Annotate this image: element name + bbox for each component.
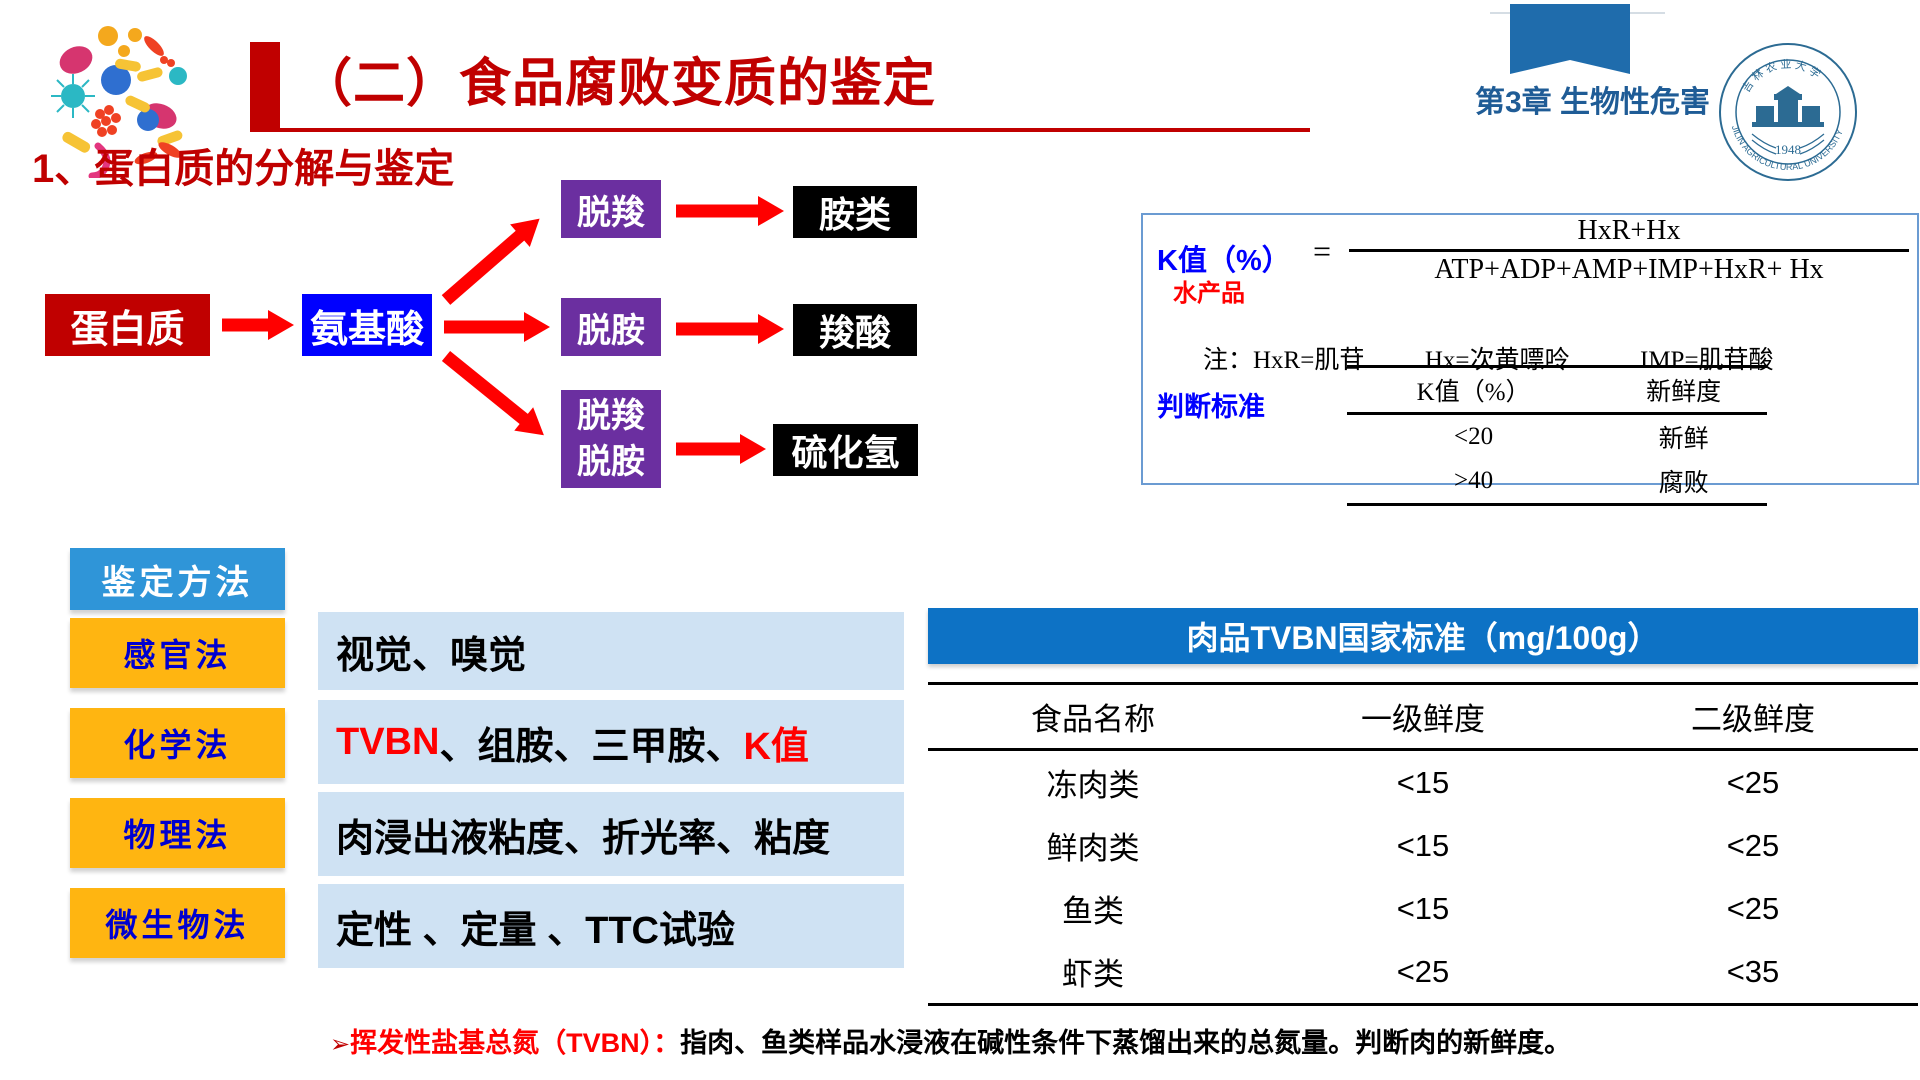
- flow-box-amines: 胺类: [793, 186, 917, 238]
- table-row: 鲜肉类 <15 <25: [928, 814, 1918, 877]
- method-content-sensory: 视觉、嗅觉: [318, 612, 904, 690]
- footnote: ➢挥发性盐基总氮（TVBN）：指肉、鱼类样品水浸液在碱性条件下蒸馏出来的总氮量。…: [330, 1020, 1920, 1066]
- chapter-ribbon: [1510, 4, 1630, 60]
- university-seal-logo: 1948 吉 林 农 业 大 学 JILIN AGRICULTURAL UNIV…: [1718, 42, 1858, 182]
- kvalue-note-hxr: 注：HxR=肌苷: [1203, 340, 1364, 376]
- svg-text:吉 林 农 业 大 学: 吉 林 农 业 大 学: [1739, 58, 1823, 95]
- criteria-cell: <20: [1347, 414, 1600, 460]
- table-row: <20 新鲜: [1347, 414, 1767, 460]
- tvbn-cell-grade2: <35: [1588, 940, 1918, 1005]
- flow-box-deamination: 脱胺: [561, 298, 661, 356]
- tvbn-cell-grade2: <25: [1588, 814, 1918, 877]
- tvbn-header-grade2: 二级鲜度: [1588, 684, 1918, 750]
- method-content-microbiological: 定性 、定量 、TTC试验: [318, 884, 904, 968]
- criteria-cell: >40: [1347, 459, 1600, 505]
- kvalue-numerator: HxR+Hx: [1349, 215, 1909, 249]
- flow-box-decarb-deamin-line2: 脱胺: [577, 439, 645, 485]
- content-text-kvalue: K值: [743, 715, 808, 770]
- kvalue-denominator: ATP+ADP+AMP+IMP+HxR+ Hx: [1349, 252, 1909, 286]
- arrow-amino-to-decarboxylation: [446, 218, 540, 300]
- criteria-cell: 腐败: [1600, 459, 1767, 505]
- content-text-mid: 、组胺、三甲胺、: [439, 715, 743, 770]
- tvbn-cell-grade1: <25: [1258, 940, 1588, 1005]
- svg-text:1948: 1948: [1775, 142, 1801, 157]
- tvbn-table-title: 肉品TVBN国家标准（mg/100g）: [928, 608, 1918, 664]
- tvbn-cell-food: 鱼类: [928, 877, 1258, 940]
- flow-box-decarb-deamin-line1: 脱羧: [577, 393, 645, 439]
- tvbn-cell-grade2: <25: [1588, 877, 1918, 940]
- criteria-header-0: K值（%）: [1347, 367, 1600, 414]
- bullet-arrow-icon: ➢: [330, 1031, 350, 1058]
- tvbn-cell-food: 鲜肉类: [928, 814, 1258, 877]
- content-text: 肉浸出液粘度、折光率、粘度: [336, 807, 830, 862]
- table-row: 虾类 <25 <35: [928, 940, 1918, 1005]
- table-header-row: K值（%） 新鲜度: [1347, 367, 1767, 414]
- tvbn-header-grade1: 一级鲜度: [1258, 684, 1588, 750]
- title-underline: [250, 128, 1310, 132]
- kvalue-fraction: HxR+Hx ATP+ADP+AMP+IMP+HxR+ Hx: [1349, 215, 1909, 286]
- title-accent-bar: [250, 42, 280, 128]
- kvalue-sublabel: 水产品: [1173, 273, 1293, 308]
- footnote-term: 挥发性盐基总氮（TVBN）：: [350, 1028, 680, 1058]
- tvbn-cell-food: 冻肉类: [928, 750, 1258, 815]
- flow-box-hydrogen-sulfide: 硫化氢: [773, 424, 918, 476]
- method-item-microbiological[interactable]: 微生物法: [70, 888, 285, 958]
- method-item-chemical[interactable]: 化学法: [70, 708, 285, 778]
- page-title: （二）食品腐败变质的鉴定: [300, 44, 1140, 124]
- tvbn-cell-grade2: <25: [1588, 750, 1918, 815]
- tvbn-cell-grade1: <15: [1258, 877, 1588, 940]
- flow-box-amino-acid: 氨基酸: [302, 294, 432, 356]
- criteria-header-1: 新鲜度: [1600, 367, 1767, 414]
- method-item-physical[interactable]: 物理法: [70, 798, 285, 868]
- tvbn-cell-grade1: <15: [1258, 750, 1588, 815]
- arrow-amino-to-decarb-deamin: [446, 356, 543, 435]
- kvalue-criteria-label: 判断标准: [1157, 385, 1307, 424]
- kvalue-panel: K值（%） 水产品 = HxR+Hx ATP+ADP+AMP+IMP+HxR+ …: [1141, 213, 1919, 485]
- flow-box-carboxylic-acid: 羧酸: [793, 304, 917, 356]
- flow-box-decarboxylation: 脱羧: [561, 180, 661, 238]
- method-content-physical: 肉浸出液粘度、折光率、粘度: [318, 792, 904, 876]
- table-row: >40 腐败: [1347, 459, 1767, 505]
- chapter-label: 第3章 生物性危害: [1430, 82, 1710, 124]
- table-row: 冻肉类 <15 <25: [928, 750, 1918, 815]
- footnote-body: 指肉、鱼类样品水浸液在碱性条件下蒸馏出来的总氮量。判断肉的新鲜度。: [680, 1028, 1571, 1058]
- criteria-cell: 新鲜: [1600, 414, 1767, 460]
- tvbn-cell-food: 虾类: [928, 940, 1258, 1005]
- flow-box-decarb-deamin: 脱羧 脱胺: [561, 390, 661, 488]
- tvbn-table: 食品名称 一级鲜度 二级鲜度 冻肉类 <15 <25 鲜肉类 <15 <25 鱼…: [928, 682, 1918, 1006]
- flow-box-protein: 蛋白质: [45, 294, 210, 356]
- tvbn-cell-grade1: <15: [1258, 814, 1588, 877]
- kvalue-equals-sign: =: [1313, 233, 1331, 270]
- section-heading: 1、蛋白质的分解与鉴定: [32, 143, 592, 195]
- kvalue-criteria-table: K值（%） 新鲜度 <20 新鲜 >40 腐败: [1347, 365, 1767, 506]
- content-text: 视觉、嗅觉: [336, 624, 526, 679]
- content-text: 定性 、定量 、TTC试验: [336, 899, 735, 954]
- table-row: 鱼类 <15 <25: [928, 877, 1918, 940]
- tvbn-header-food: 食品名称: [928, 684, 1258, 750]
- method-item-sensory[interactable]: 感官法: [70, 618, 285, 688]
- method-content-chemical: TVBN、组胺、三甲胺、K值: [318, 700, 904, 784]
- content-text-tvbn: TVBN: [336, 721, 439, 764]
- methods-header: 鉴定方法: [70, 548, 285, 610]
- table-header-row: 食品名称 一级鲜度 二级鲜度: [928, 684, 1918, 750]
